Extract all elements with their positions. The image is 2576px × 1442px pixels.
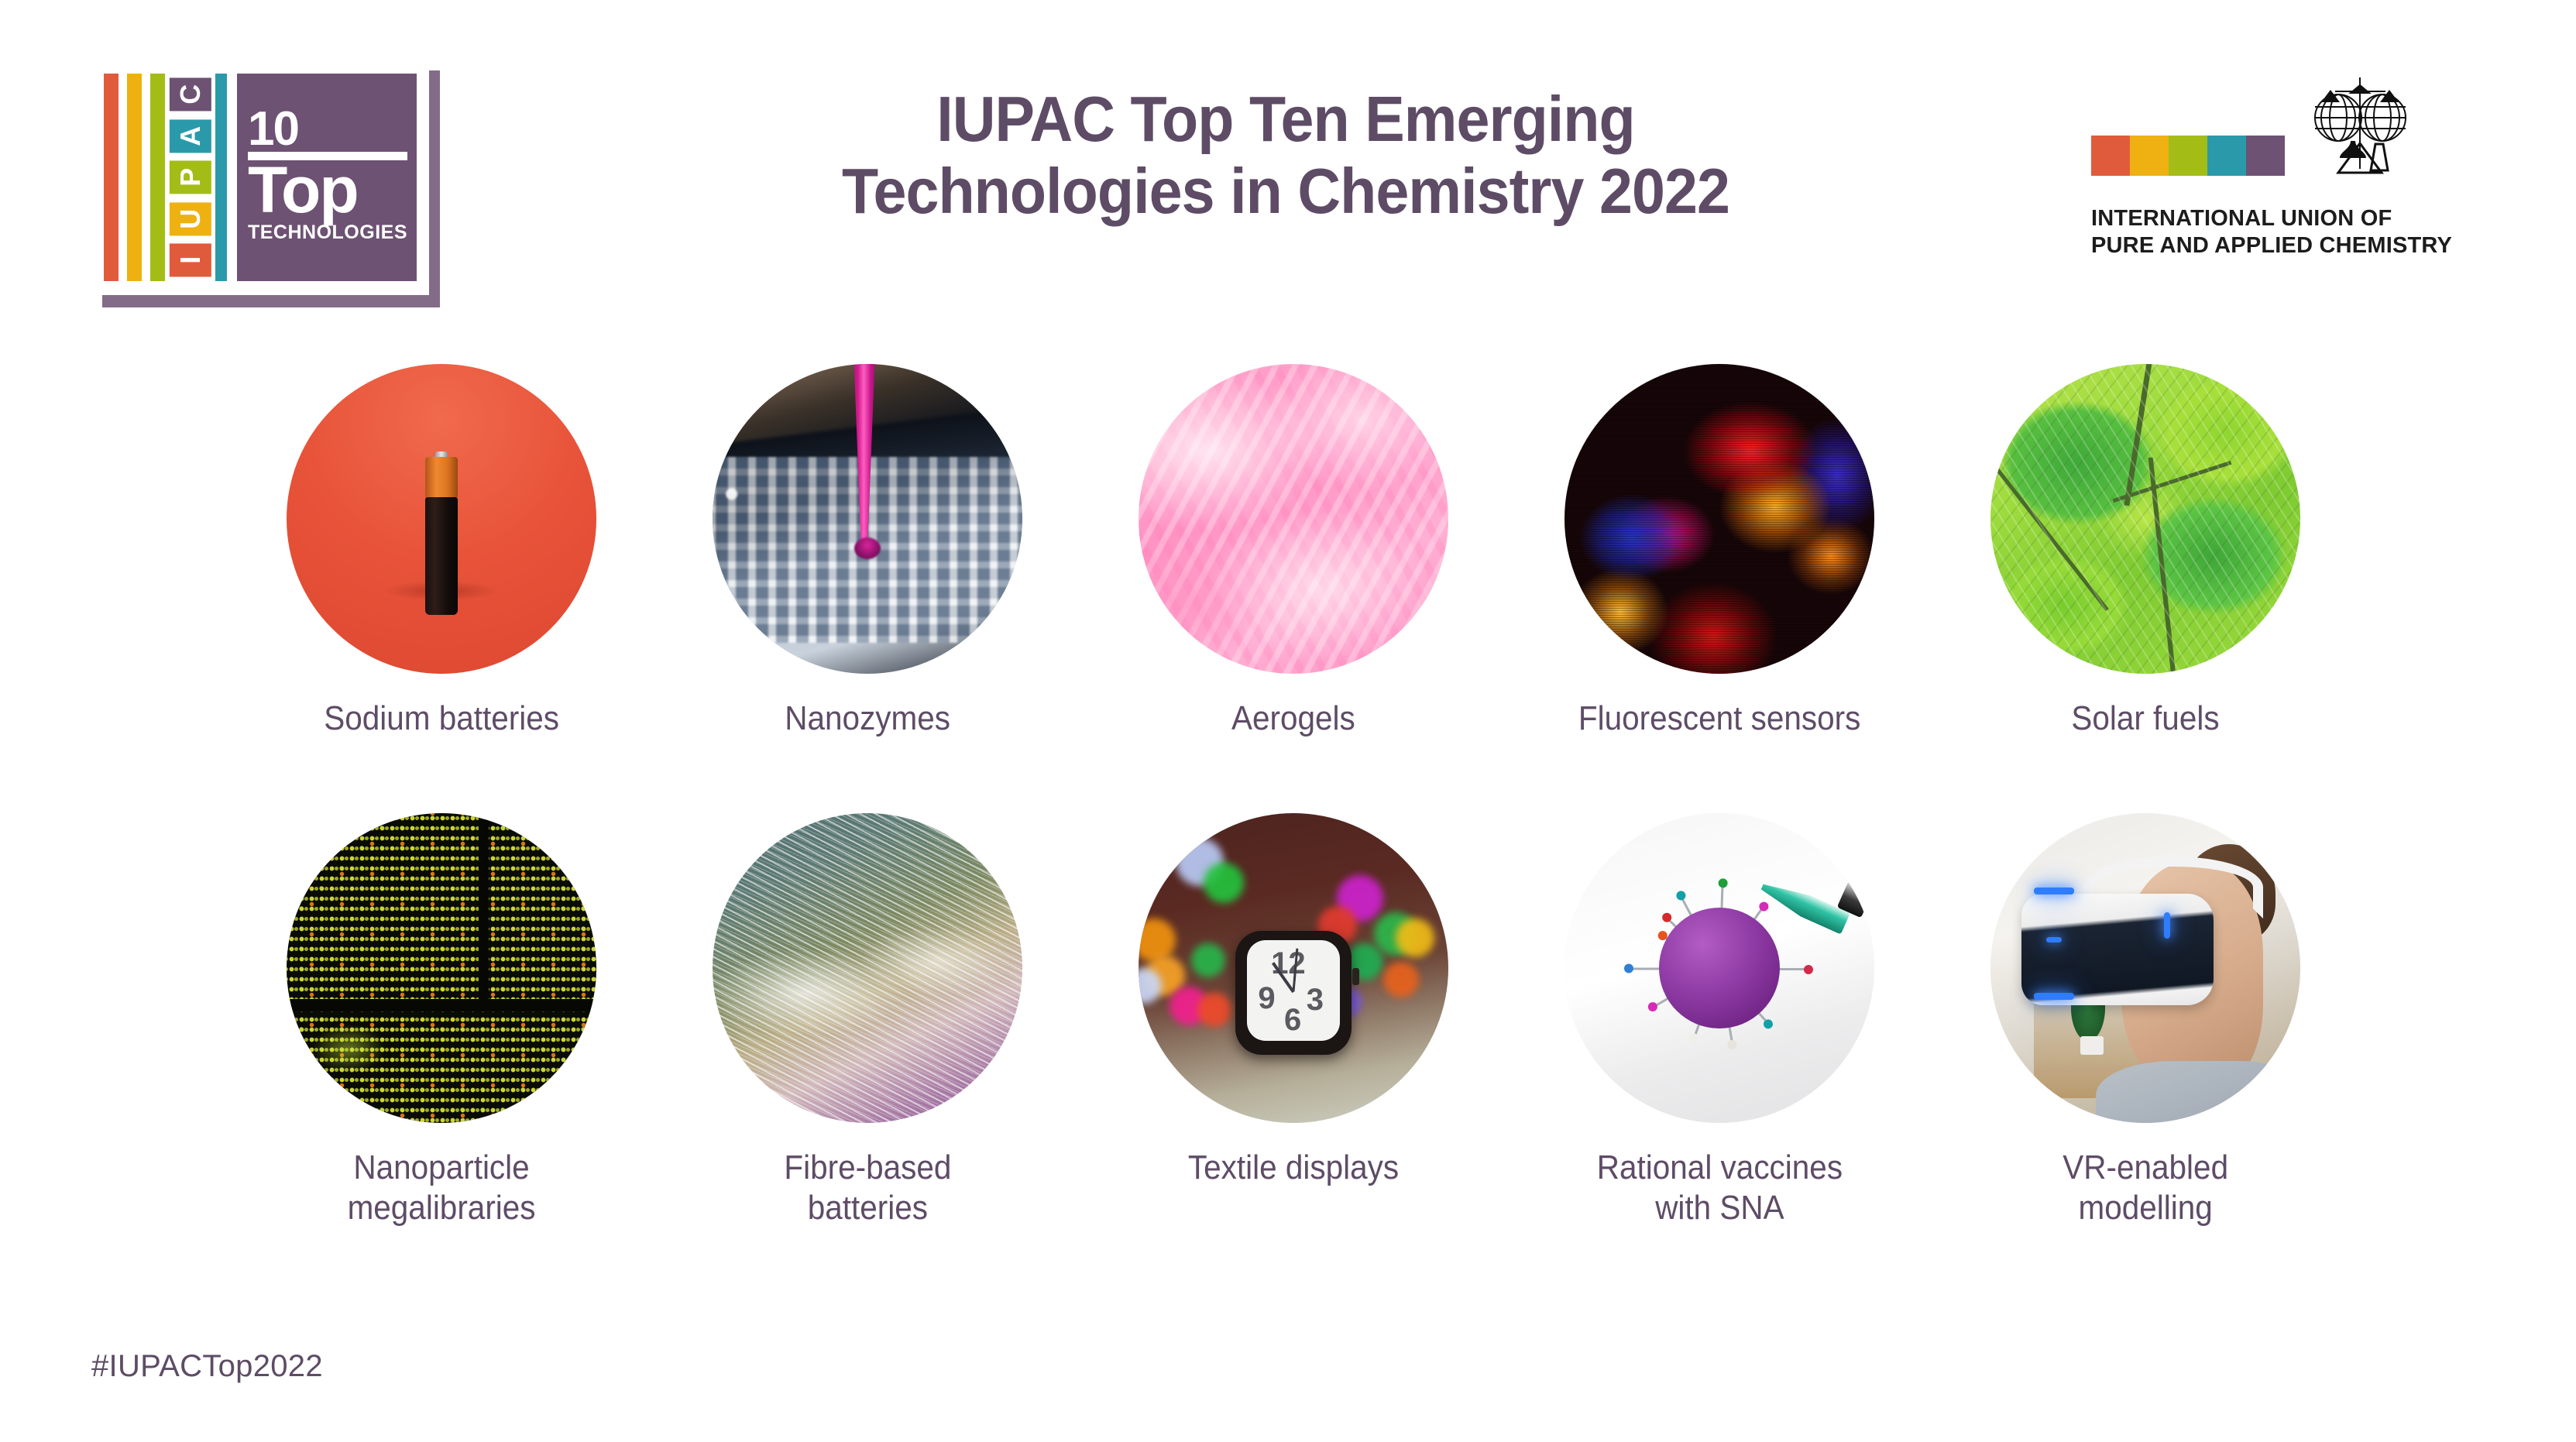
iupac-globes-scales-emblem [2304, 70, 2416, 182]
technologies-row-1: Sodium batteries Nanozymes Aeroge [0, 364, 2576, 813]
dna-microarray-photo[interactable] [287, 813, 596, 1123]
poster-header: C A P U I 10 Top TECHNOLOGIES IUPAC Top … [0, 0, 2576, 325]
tech-item-aerogels[interactable]: Aerogels [1131, 364, 1456, 739]
tech-label: Rational vaccines with SNA [1596, 1148, 1842, 1228]
logo-bar-teal [215, 74, 227, 281]
logo-letter-i: I [170, 244, 211, 277]
tech-item-fluorescent-sensors[interactable]: Fluorescent sensors [1557, 364, 1882, 739]
tech-item-solar-fuels[interactable]: Solar fuels [1983, 364, 2308, 739]
iupac-swatch-purple [2246, 136, 2285, 176]
tech-item-textile-displays[interactable]: 12369 Textile displays [1131, 813, 1456, 1188]
logo-bar-orange [104, 74, 118, 281]
page-title: IUPAC Top Ten Emerging Technologies in C… [652, 84, 1920, 228]
optical-fibre-strands-photo[interactable] [713, 813, 1022, 1123]
logo-purple-panel: 10 Top TECHNOLOGIES [237, 74, 417, 281]
iupac-organisation-name: INTERNATIONAL UNION OF PURE AND APPLIED … [2091, 205, 2494, 260]
tech-label: Nanoparticle megalibraries [348, 1148, 536, 1228]
page-title-line-1: IUPAC Top Ten Emerging [652, 84, 1920, 156]
sodium-battery-photo[interactable] [287, 364, 596, 674]
iupac-swatch-green [2169, 136, 2207, 176]
iupac-color-swatch [2091, 136, 2285, 176]
tech-label: Sodium batteries [324, 699, 559, 739]
logo-bar-green [150, 74, 165, 281]
vr-headset-person-photo[interactable] [1990, 813, 2300, 1123]
logo-card: C A P U I 10 Top TECHNOLOGIES [91, 58, 429, 295]
tech-label: Textile displays [1188, 1148, 1399, 1188]
technologies-row-2: Nanoparticle megalibraries Fibre-based b… [0, 813, 2576, 1262]
logo-letter-a: A [170, 119, 211, 153]
iupac-name-line-2: PURE AND APPLIED CHEMISTRY [2091, 232, 2494, 259]
smartwatch-bokeh-photo[interactable]: 12369 [1139, 813, 1448, 1123]
tech-label: Solar fuels [2071, 699, 2219, 739]
hashtag-label: #IUPACTop2022 [91, 1349, 323, 1384]
top-ten-technologies-logo: C A P U I 10 Top TECHNOLOGIES [91, 58, 440, 306]
logo-word-technologies: TECHNOLOGIES [248, 221, 407, 244]
pink-fibrous-aerogel-photo[interactable] [1139, 364, 1448, 674]
tech-label: Fibre-based batteries [784, 1148, 951, 1228]
logo-iupac-letters: C A P U I [173, 74, 207, 281]
technologies-grid: Sodium batteries Nanozymes Aeroge [0, 364, 2576, 1262]
backlit-green-leaves-photo[interactable] [1990, 364, 2300, 674]
tech-label: Nanozymes [785, 699, 950, 739]
tech-label: Fluorescent sensors [1578, 699, 1860, 739]
tech-item-nanoparticle-megalibraries[interactable]: Nanoparticle megalibraries [279, 813, 604, 1228]
tech-item-nanozymes[interactable]: Nanozymes [705, 364, 1030, 739]
logo-word-top: Top [248, 152, 407, 217]
logo-letter-c: C [170, 77, 211, 111]
iupac-swatch-orange [2091, 136, 2130, 176]
logo-letter-p: P [170, 160, 211, 194]
virus-model-syringe-photo[interactable] [1564, 813, 1874, 1123]
tech-item-rational-vaccines[interactable]: Rational vaccines with SNA [1557, 813, 1882, 1228]
tech-item-fibre-based-batteries[interactable]: Fibre-based batteries [705, 813, 1030, 1228]
tech-item-vr-enabled-modelling[interactable]: VR-enabled modelling [1983, 813, 2308, 1228]
logo-color-bars [104, 74, 165, 281]
logo-number-ten: 10 [248, 108, 407, 151]
iupac-name-line-1: INTERNATIONAL UNION OF [2091, 205, 2494, 232]
iupac-swatch-yellow [2130, 136, 2169, 176]
logo-bar-yellow [127, 74, 142, 281]
fluorescence-microscopy-photo[interactable] [1564, 364, 1874, 674]
pipette-microplate-photo[interactable] [713, 364, 1022, 674]
page-title-line-2: Technologies in Chemistry 2022 [652, 156, 1920, 228]
logo-letter-u: U [170, 202, 211, 235]
iupac-logo: INTERNATIONAL UNION OF PURE AND APPLIED … [2091, 70, 2494, 271]
watch-face: 12369 [1247, 940, 1340, 1041]
poster-canvas: C A P U I 10 Top TECHNOLOGIES IUPAC Top … [0, 0, 2576, 1442]
tech-item-sodium-batteries[interactable]: Sodium batteries [279, 364, 604, 739]
tech-label: VR-enabled modelling [2063, 1148, 2228, 1228]
tech-label: Aerogels [1231, 699, 1355, 739]
iupac-swatch-teal [2207, 136, 2246, 176]
